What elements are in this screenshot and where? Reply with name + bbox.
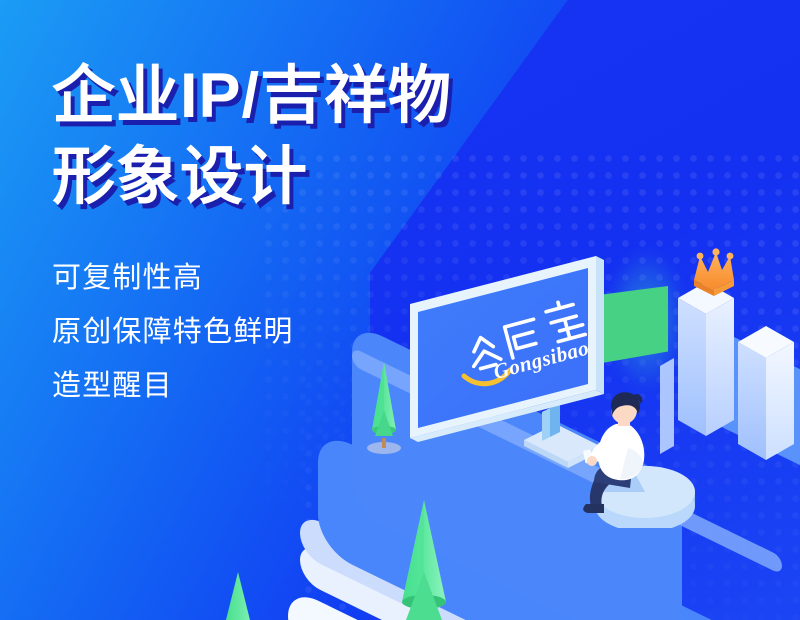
feature-list: 可复制性高 原创保障特色鲜明 造型醒目	[52, 264, 592, 401]
conifer-tree-large	[382, 498, 466, 620]
text-content: 企业IP/吉祥物 形象设计 可复制性高 原创保障特色鲜明 造型醒目	[52, 54, 592, 426]
promo-banner: Gongsibao	[0, 0, 800, 620]
headline-line-1: 企业IP/吉祥物	[52, 54, 592, 139]
headline-line-2: 形象设计	[52, 135, 592, 220]
feature-item-1: 可复制性高	[52, 264, 592, 293]
conifer-tree-edge	[208, 566, 268, 620]
tree-edge-svg	[208, 566, 268, 620]
feature-item-3: 造型醒目	[52, 372, 592, 401]
feature-item-2: 原创保障特色鲜明	[52, 318, 592, 347]
tree-large-svg	[382, 498, 466, 620]
